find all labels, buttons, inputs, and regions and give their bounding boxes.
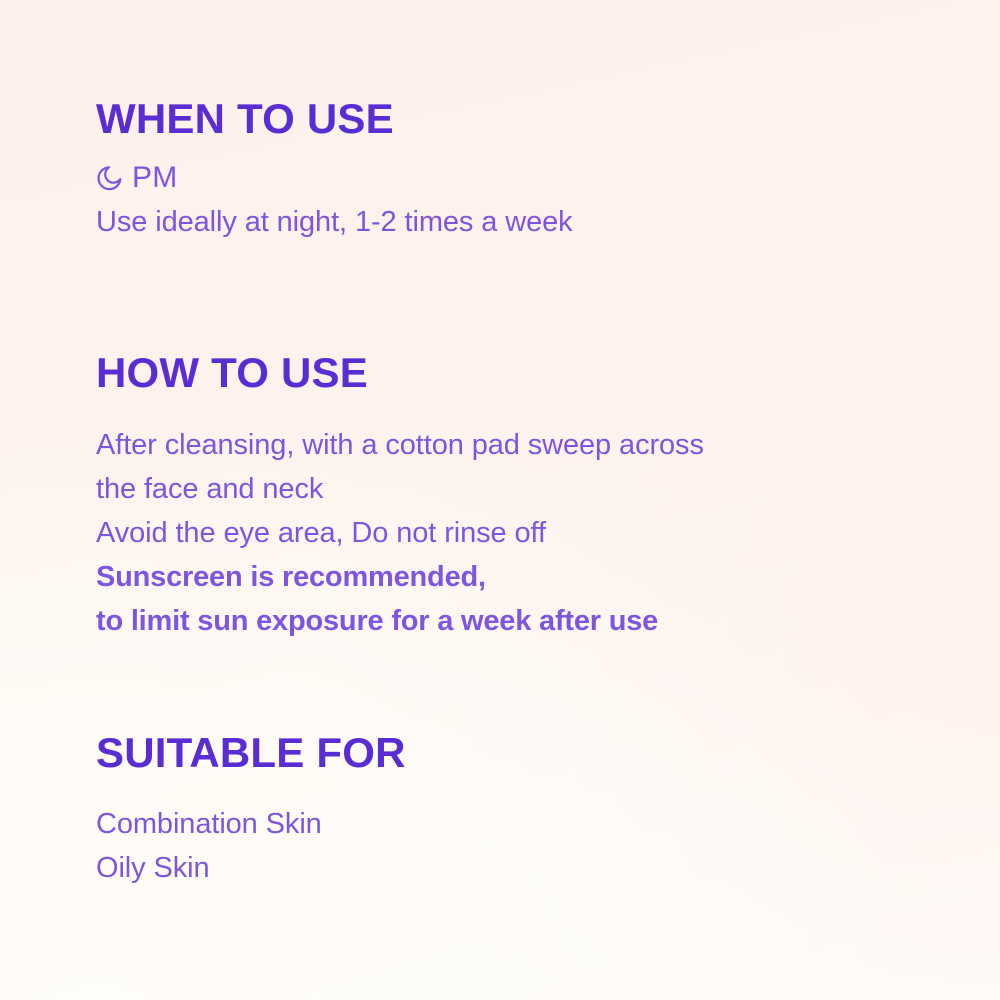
time-of-day-row: PM <box>96 161 573 195</box>
section-when-to-use: WHEN TO USE PM Use ideally at night, 1-2… <box>96 96 573 244</box>
section-how-to-use: HOW TO USE After cleansing, with a cotto… <box>96 350 704 643</box>
section-suitable-for: SUITABLE FOR Combination Skin Oily Skin <box>96 730 406 890</box>
instruction-line: the face and neck <box>96 467 704 511</box>
suitable-skin-type-list: Combination Skin Oily Skin <box>96 802 406 890</box>
when-to-use-details: PM Use ideally at night, 1-2 times a wee… <box>96 161 573 244</box>
skin-type-item: Combination Skin <box>96 802 406 846</box>
instruction-line-emphasis: Sunscreen is recommended, <box>96 555 704 599</box>
product-usage-card: WHEN TO USE PM Use ideally at night, 1-2… <box>0 0 1000 1000</box>
instruction-line: After cleansing, with a cotton pad sweep… <box>96 423 704 467</box>
instruction-line: Avoid the eye area, Do not rinse off <box>96 511 704 555</box>
skin-type-item: Oily Skin <box>96 846 406 890</box>
when-to-use-note: Use ideally at night, 1-2 times a week <box>96 200 573 244</box>
card-content: WHEN TO USE PM Use ideally at night, 1-2… <box>96 0 956 1000</box>
section-title-how-to-use: HOW TO USE <box>96 350 704 396</box>
how-to-use-instructions: After cleansing, with a cotton pad sweep… <box>96 423 704 643</box>
instruction-line-emphasis: to limit sun exposure for a week after u… <box>96 599 704 643</box>
section-title-when-to-use: WHEN TO USE <box>96 96 573 142</box>
time-of-day-label: PM <box>132 163 177 193</box>
section-title-suitable-for: SUITABLE FOR <box>96 730 406 776</box>
crescent-moon-icon <box>96 165 123 192</box>
